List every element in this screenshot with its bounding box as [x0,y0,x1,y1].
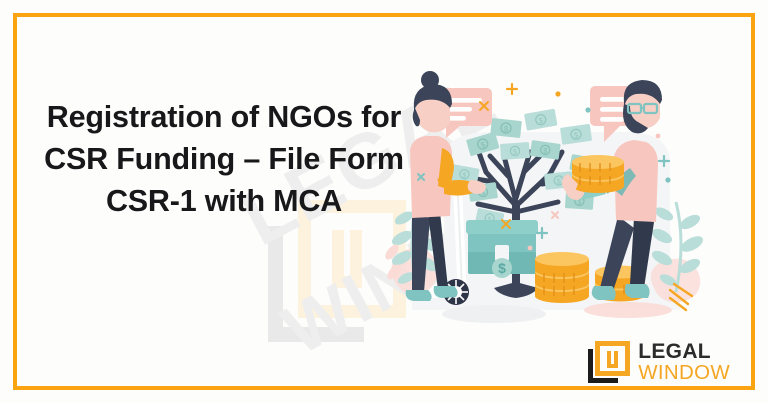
logo-word-window: WINDOW [638,363,730,384]
money-tree-illustration: Money tree funding illustration [382,52,737,344]
window-frame-logo-mark [588,341,630,383]
coin-stack-front-left [535,252,589,303]
svg-text:$: $ [498,260,506,276]
legal-window-logo[interactable]: LEGAL WINDOW [588,339,730,385]
logo-word-legal: LEGAL [638,341,730,362]
illustration-svg: Money tree funding illustration [382,52,737,344]
logo-wordmark: LEGAL WINDOW [638,341,730,384]
blog-banner: LEGAL WINDOW Registration of NGOs for CS… [0,0,768,403]
watermark-l-bracket [268,226,364,342]
banner-headline: Registration of NGOs for CSR Funding – F… [34,96,414,222]
